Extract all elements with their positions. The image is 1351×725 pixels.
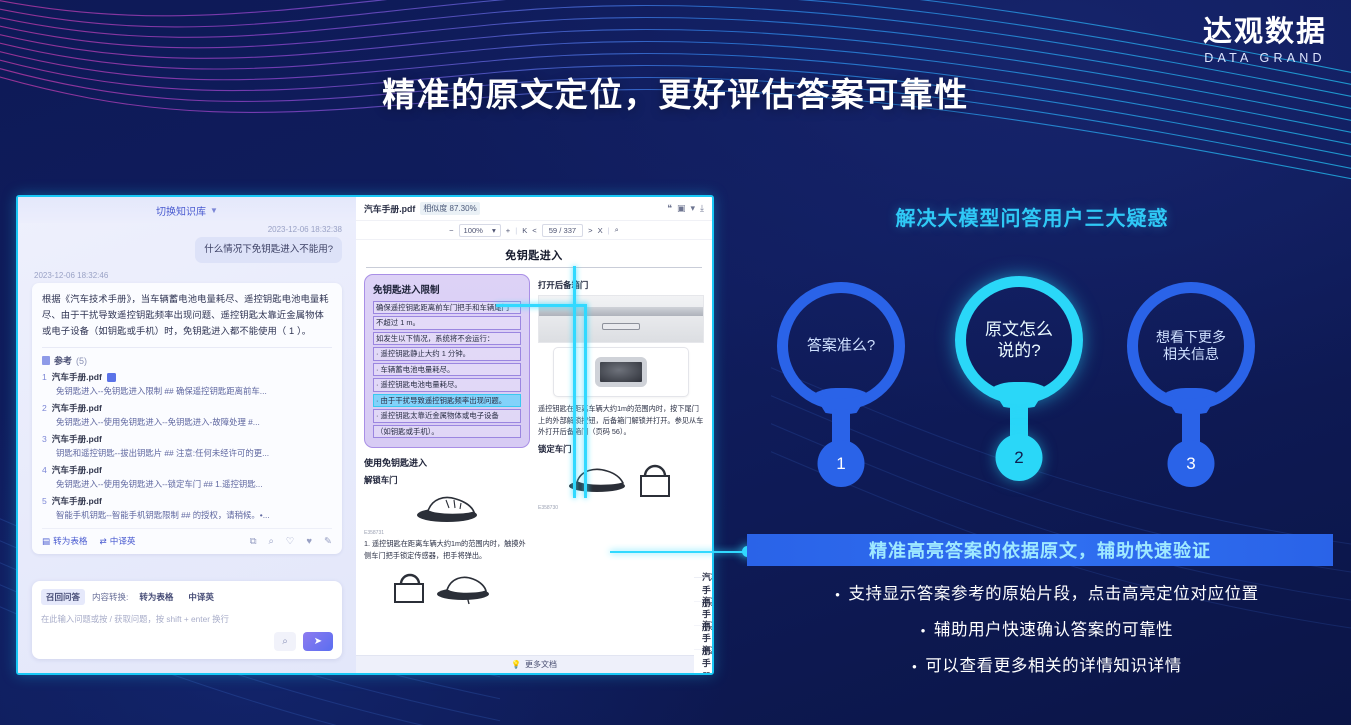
divider: |	[515, 226, 517, 235]
doc-file-name: 汽车手册.pdf	[702, 643, 714, 676]
convert-option-translate[interactable]: 中译英	[184, 589, 218, 605]
balloon-number: 1	[818, 440, 865, 487]
answer-text: 根据《汽车技术手册》，当车辆蓄电池电量耗尽、遥控钥匙电池电量耗尽、由于干扰导致遥…	[42, 292, 332, 340]
reference-file: 汽车手册.pdf	[52, 433, 102, 445]
mode-chip-recall-qa[interactable]: 召回问答	[41, 589, 85, 605]
balloon-text: 想看下更多 相关信息	[1156, 329, 1226, 364]
balloon-1: 答案准么? 1	[777, 282, 905, 410]
reference-snippet: 免钥匙进入--使用免钥匙进入--锁定车门 ## 1.遥控钥匙...	[56, 478, 332, 490]
pdf-right-column: 打开后备箱门 遥控钥匙在距离车辆大约1m的范围内时，按下尾门上的外部解锁按钮，后…	[538, 274, 704, 611]
highlight-line: · 遥控钥匙电池电量耗尽。	[373, 378, 521, 391]
hand-illustration	[364, 491, 530, 525]
list-item[interactable]: 1 汽车手册.pdf 免钥匙进入--免钥匙进入限制 ## 确保遥控钥匙距离前车.…	[42, 371, 332, 397]
pdf-left-column: 免钥匙进入限制 确保遥控钥匙距离前车门把手和车辆尾门 不超过 1 m。 如发生以…	[364, 274, 530, 611]
locate-connector-horizontal	[496, 304, 586, 307]
question-timestamp: 2023-12-06 18:32:38	[18, 223, 356, 237]
last-page-button[interactable]: X	[598, 226, 603, 235]
trunk-photo	[538, 295, 704, 343]
zoom-in-button[interactable]: +	[506, 226, 510, 235]
list-item: • 可以查看更多相关的详情知识详情	[747, 652, 1347, 676]
page-title: 精准的原文定位，更好评估答案可靠性	[0, 68, 1351, 116]
convert-to-table-button[interactable]: ▤ 转为表格	[42, 535, 88, 547]
search-icon[interactable]: ⌕	[274, 632, 296, 651]
locate-connector-vertical-2	[584, 304, 587, 498]
next-page-button[interactable]: >	[588, 226, 592, 235]
reference-head: 4 汽车手册.pdf	[42, 464, 332, 476]
locate-icon[interactable]	[107, 373, 116, 382]
pdf-similarity: 相似度 87.30%	[420, 202, 479, 215]
pdf-section-title: 打开后备箱门	[538, 279, 704, 291]
reference-head: 2 汽车手册.pdf	[42, 402, 332, 414]
locate-connector-vertical	[573, 266, 576, 498]
pdf-doc-title: 免钥匙进入	[356, 247, 712, 263]
edit-icon[interactable]: ✎	[324, 536, 332, 547]
table-icon: ▤	[42, 536, 50, 547]
more-documents-button[interactable]: 💡 更多文档	[356, 655, 712, 673]
translate-label: 中译英	[110, 535, 136, 547]
reference-head: 5 汽车手册.pdf	[42, 495, 332, 507]
chevron-down-icon: ▼	[210, 206, 218, 215]
balloon-2: 原文怎么 说的? 2	[955, 276, 1083, 404]
thumbs-up-icon[interactable]: ♡	[286, 536, 295, 547]
pdf-header: 汽车手册.pdf 相似度 87.30% ❝ ▣ ▾ ⤓	[356, 197, 712, 221]
reference-head: 1 汽车手册.pdf	[42, 371, 332, 383]
highlight-line: · 遥控钥匙太靠近金属物体或电子设备	[373, 409, 521, 422]
reference-index: 1	[42, 372, 47, 382]
copy-icon[interactable]: ⧉	[250, 536, 257, 547]
search-input[interactable]: 在此输入问题或按 / 获取问题，按 shift + enter 换行	[41, 613, 333, 625]
similarity-value: 87.30%	[450, 204, 477, 213]
brand-logo: 达观数据 DATA GRAND	[1203, 16, 1327, 65]
similarity-label: 相似度	[423, 204, 447, 213]
balloon-ring: 答案准么?	[777, 282, 905, 410]
pdf-body-text: 1. 遥控钥匙在距离车辆大约1m的范围内时，触摸外侧车门把手锁定传感器，把手将弹…	[364, 538, 530, 561]
pdf-body-text: 遥控钥匙在距离车辆大约1m的范围内时，按下尾门上的外部解锁按钮，后备箱门解锁并打…	[538, 403, 704, 438]
reference-snippet: 免钥匙进入--使用免钥匙进入--免钥匙进入-故障处理 #...	[56, 416, 332, 428]
app-screenshot-panel: 切换知识库 ▼ 2023-12-06 18:32:38 什么情况下免钥匙进入不能…	[16, 195, 714, 675]
highlight-line-active: · 由于干扰导致遥控钥匙频率出现问题。	[373, 394, 521, 407]
pdf-document-body[interactable]: 免钥匙进入 免钥匙进入限制 确保遥控钥匙距离前车门把手和车辆尾门 不超过 1 m…	[356, 240, 712, 673]
convert-option-table[interactable]: 转为表格	[135, 589, 177, 605]
related-documents-list: 汽车手册.pdf 相似度 85.05% ▶ 汽车手册.pdf 相似度 84.02…	[694, 577, 712, 673]
brand-name-cn: 达观数据	[1203, 16, 1327, 48]
highlight-line: · 遥控钥匙静止大约 1 分钟。	[373, 347, 521, 360]
divider: |	[608, 226, 610, 235]
balloon-3: 想看下更多 相关信息 3	[1127, 282, 1255, 410]
list-item[interactable]: 5 汽车手册.pdf 智能手机钥匙--智能手机钥匙限制 ## 的授权，请稍候。•…	[42, 495, 332, 521]
balloon-ring: 想看下更多 相关信息	[1127, 282, 1255, 410]
photo-strip	[539, 307, 703, 316]
pdf-columns: 免钥匙进入限制 确保遥控钥匙距离前车门把手和车辆尾门 不超过 1 m。 如发生以…	[356, 274, 712, 611]
reference-index: 3	[42, 434, 47, 444]
right-section-heading: 解决大模型问答用户三大疑惑	[862, 202, 1202, 231]
highlight-line: 如发生以下情况，系统将不会运行：	[373, 332, 521, 345]
question-bubble: 什么情况下免钥匙进入不能用?	[195, 237, 342, 263]
layout-icon[interactable]: ▣	[677, 203, 686, 214]
references-label: 参考	[54, 354, 72, 367]
chevron-down-icon: ▾	[492, 226, 496, 235]
convert-to-table-label: 转为表格	[53, 535, 87, 547]
translate-button[interactable]: ⇄ 中译英	[100, 535, 136, 547]
highlight-title: 免钥匙进入限制	[373, 282, 521, 296]
page-indicator[interactable]: 59 / 337	[542, 224, 583, 237]
pdf-toolbar: − 100% ▾ + | K < 59 / 337 > X | ⌕	[356, 221, 712, 240]
chat-pane: 切换知识库 ▼ 2023-12-06 18:32:38 什么情况下免钥匙进入不能…	[18, 197, 356, 673]
pdf-section-subtitle: 解锁车门	[364, 474, 530, 486]
reference-index: 2	[42, 403, 47, 413]
table-row[interactable]: 汽车手册.pdf 相似度 83.06% ▶	[694, 650, 712, 674]
bullet-text: 支持显示答案参考的原始片段，点击高亮定位对应位置	[848, 580, 1258, 604]
reference-index: 4	[42, 465, 47, 475]
callout-connector-line	[610, 551, 748, 553]
lock-illustration	[538, 460, 704, 500]
divider	[366, 267, 702, 268]
pdf-section-title: 锁定车门	[538, 443, 704, 455]
balloon-ring: 原文怎么 说的?	[955, 276, 1083, 404]
quote-icon[interactable]: ❝	[667, 203, 672, 214]
chat-input-card: 召回问答 内容转换: 转为表格 中译英 在此输入问题或按 / 获取问题，按 sh…	[32, 581, 342, 659]
reference-snippet: 智能手机钥匙--智能手机钥匙限制 ## 的授权，请稍候。•...	[56, 509, 332, 521]
answer-timestamp: 2023-12-06 18:32:46	[18, 263, 356, 283]
send-row: ⌕ ➤	[274, 632, 333, 651]
balloon-number: 3	[1168, 440, 1215, 487]
zoom-select[interactable]: 100% ▾	[459, 224, 501, 237]
balloon-text: 答案准么?	[807, 337, 875, 356]
input-mode-row: 召回问答 内容转换: 转为表格 中译英	[41, 589, 333, 605]
pdf-section-title: 使用免钥匙进入	[364, 456, 530, 469]
list-item[interactable]: 4 汽车手册.pdf 免钥匙进入--使用免钥匙进入--锁定车门 ## 1.遥控钥…	[42, 464, 332, 490]
list-item[interactable]: 2 汽车手册.pdf 免钥匙进入--使用免钥匙进入--免钥匙进入-故障处理 #.…	[42, 402, 332, 428]
reference-snippet: 免钥匙进入--免钥匙进入限制 ## 确保遥控钥匙距离前车...	[56, 385, 332, 397]
zoom-out-button[interactable]: −	[449, 226, 453, 235]
references-header: 参考 (5)	[42, 354, 332, 367]
pdf-file-name: 汽车手册.pdf	[364, 202, 415, 215]
pdf-figure-code: E358730	[538, 505, 704, 511]
reference-file: 汽车手册.pdf	[52, 464, 102, 476]
balloon-number: 2	[996, 434, 1043, 481]
download-icon[interactable]: ⤓	[700, 203, 704, 214]
brand-name-en: DATA GRAND	[1203, 51, 1327, 65]
reference-file: 汽车手册.pdf	[52, 371, 102, 383]
highlighted-passage[interactable]: 免钥匙进入限制 确保遥控钥匙距离前车门把手和车辆尾门 不超过 1 m。 如发生以…	[364, 274, 530, 448]
more-icon[interactable]: ▾	[690, 203, 695, 214]
document-icon	[42, 356, 50, 365]
more-documents-label: 更多文档	[525, 659, 557, 670]
bullet-text: 辅助用户快速确认答案的可靠性	[934, 616, 1173, 640]
reference-file: 汽车手册.pdf	[52, 495, 102, 507]
answer-card: 根据《汽车技术手册》，当车辆蓄电池电量耗尽、遥控钥匙电池电量耗尽、由于干扰导致遥…	[32, 283, 342, 554]
references-count: (5)	[76, 356, 87, 366]
list-item[interactable]: 3 汽车手册.pdf 钥匙和遥控钥匙--拔出钥匙片 ## 注意:任何未经许可的更…	[42, 433, 332, 459]
reference-snippet: 钥匙和遥控钥匙--拔出钥匙片 ## 注意:任何未经许可的更...	[56, 447, 332, 459]
feature-bullet-list: • 支持显示答案参考的原始片段，点击高亮定位对应位置 • 辅助用户快速确认答案的…	[747, 580, 1347, 688]
list-item: • 支持显示答案参考的原始片段，点击高亮定位对应位置	[747, 580, 1347, 604]
balloon-text: 原文怎么 说的?	[985, 319, 1053, 362]
pdf-pane: 汽车手册.pdf 相似度 87.30% ❝ ▣ ▾ ⤓ − 100% ▾ + |…	[356, 197, 712, 673]
first-page-button[interactable]: K	[522, 226, 527, 235]
knowledge-base-switcher[interactable]: 切换知识库 ▼	[18, 197, 356, 223]
send-icon[interactable]: ➤	[303, 632, 333, 651]
divider	[42, 347, 332, 348]
bullet-icon: •	[835, 588, 840, 601]
lock-hand-illustration	[364, 566, 530, 606]
highlight-line: （如钥匙或手机）。	[373, 425, 521, 438]
bullet-icon: •	[912, 660, 917, 673]
photo-latch	[602, 323, 640, 330]
reference-index: 5	[42, 496, 47, 506]
translate-icon: ⇄	[100, 536, 107, 547]
question-row: 什么情况下免钥匙进入不能用?	[18, 237, 356, 263]
highlight-banner: 精准高亮答案的依据原文，辅助快速验证	[747, 534, 1333, 566]
search-icon[interactable]: ⌕	[615, 225, 619, 235]
pdf-figure-code: E358731	[364, 530, 530, 536]
thumbs-down-icon[interactable]: ♥	[306, 536, 312, 547]
bulb-icon: 💡	[511, 660, 521, 669]
photo-knob	[595, 357, 647, 387]
highlight-line: 不超过 1 m。	[373, 316, 521, 329]
search-icon[interactable]: ⌕	[269, 536, 274, 547]
reference-head: 3 汽车手册.pdf	[42, 433, 332, 445]
highlight-line: · 车辆蓄电池电量耗尽。	[373, 363, 521, 376]
list-item: • 辅助用户快速确认答案的可靠性	[747, 616, 1347, 640]
zoom-level: 100%	[464, 226, 483, 235]
reference-file: 汽车手册.pdf	[52, 402, 102, 414]
bullet-text: 可以查看更多相关的详情知识详情	[925, 652, 1182, 676]
bullet-icon: •	[921, 624, 926, 637]
prev-page-button[interactable]: <	[532, 226, 536, 235]
convert-label: 内容转换:	[92, 591, 128, 603]
answer-toolbar: ▤ 转为表格 ⇄ 中译英 ⧉ ⌕ ♡ ♥ ✎	[42, 528, 332, 547]
knowledge-base-switcher-label: 切换知识库	[156, 203, 206, 218]
